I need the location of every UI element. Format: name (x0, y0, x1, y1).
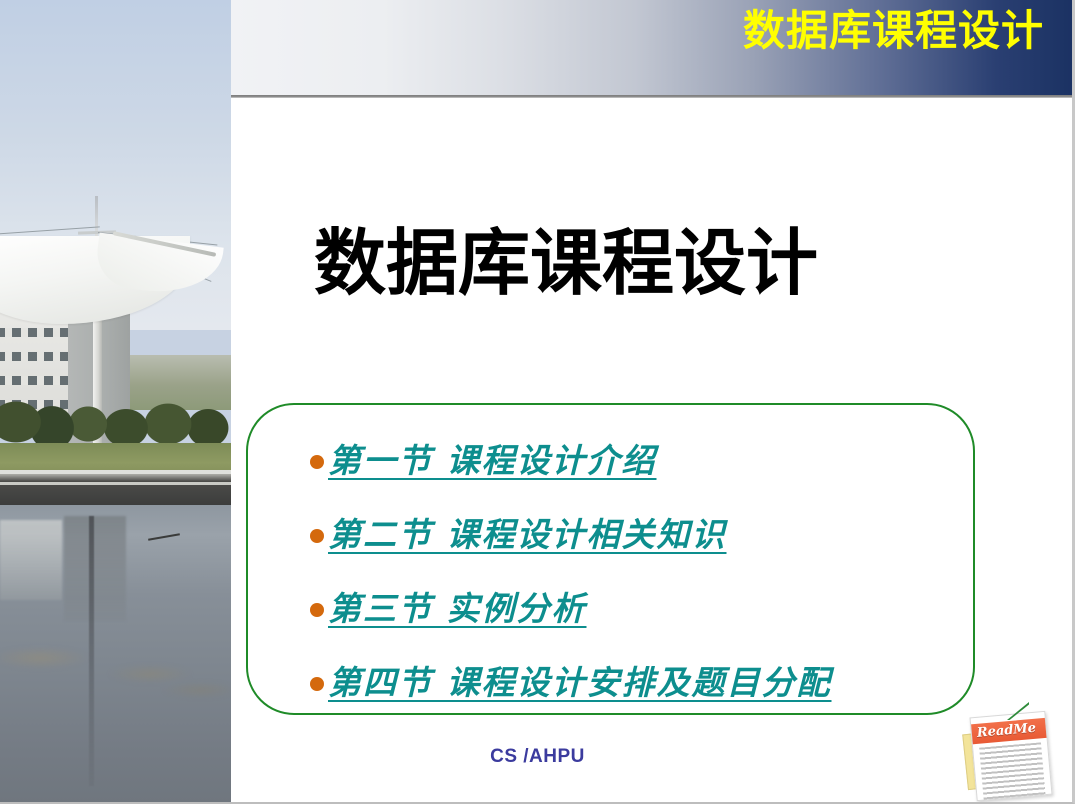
toc-link-section-2[interactable]: 第二节 课程设计相关知识 (328, 517, 727, 553)
toc-link-section-4[interactable]: 第四节 课程设计安排及题目分配 (328, 665, 832, 701)
photo-embankment (0, 470, 231, 505)
readme-title-label: ReadMe (976, 719, 1037, 744)
list-item[interactable]: 第三节 实例分析 (310, 572, 970, 646)
campus-photo (0, 0, 231, 804)
bullet-dot-icon (310, 529, 324, 543)
list-item[interactable]: 第一节 课程设计介绍 (310, 424, 970, 498)
photo-reflection-sediment (0, 640, 231, 710)
readme-front-sheet: ReadMe (969, 711, 1052, 801)
photo-reflection-pylon (64, 516, 126, 621)
readme-body-text-lines (979, 742, 1046, 801)
bullet-dot-icon (310, 603, 324, 617)
slide-header-bar: 数据库课程设计 (231, 0, 1072, 95)
toc-list: 第一节 课程设计介绍 第二节 课程设计相关知识 第三节 实例分析 第四节 课程设… (310, 424, 970, 720)
header-divider-rule (231, 95, 1072, 98)
photo-railing-lower (0, 482, 231, 485)
bullet-dot-icon (310, 455, 324, 469)
list-item[interactable]: 第二节 课程设计相关知识 (310, 498, 970, 572)
photo-railing-upper (0, 470, 231, 474)
toc-link-section-1[interactable]: 第一节 课程设计介绍 (328, 443, 657, 479)
slide-canvas: 数据库课程设计 数据库课程设计 第一节 课程设计介绍 第二节 课程设计相关知识 … (0, 0, 1075, 804)
page-title: 数据库课程设计 (314, 226, 818, 302)
header-title: 数据库课程设计 (743, 10, 1044, 52)
readme-document-icon[interactable]: ReadMe (963, 702, 1067, 799)
toc-link-section-3[interactable]: 第三节 实例分析 (328, 591, 587, 627)
list-item[interactable]: 第四节 课程设计安排及题目分配 (310, 646, 970, 720)
bullet-dot-icon (310, 677, 324, 691)
photo-reflection-building (0, 520, 62, 600)
footer-label: CS /AHPU (0, 746, 1075, 768)
